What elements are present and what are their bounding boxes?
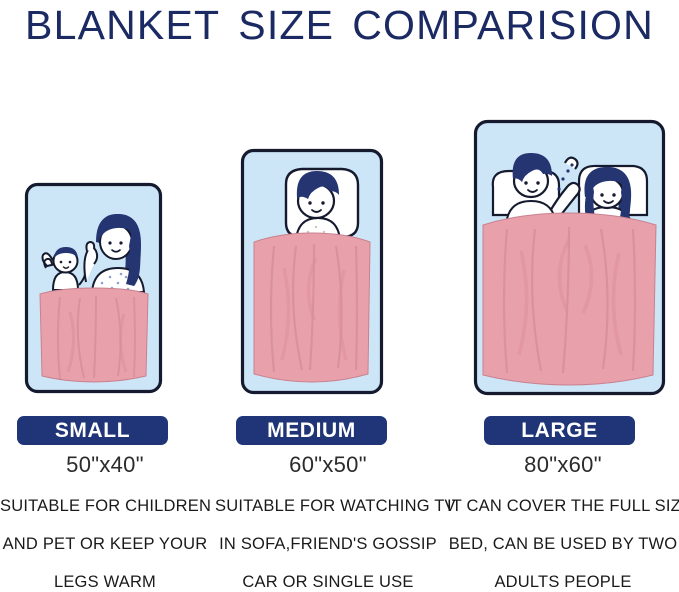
title-word-blanket: BLANKET bbox=[25, 2, 220, 48]
illustration-medium-blanket bbox=[240, 148, 384, 395]
dimensions-small: 50"x40" bbox=[0, 452, 210, 478]
dimensions-medium: 60"x50" bbox=[215, 452, 441, 478]
illustration-large-blanket bbox=[473, 119, 666, 396]
description-large-line-3: ADULTS PEOPLE bbox=[447, 573, 679, 592]
badge-large[interactable]: LARGE bbox=[484, 416, 635, 445]
description-medium-line-1: SUITABLE FOR WATCHING TV bbox=[215, 497, 441, 516]
badge-medium-label: MEDIUM bbox=[267, 419, 356, 443]
illustration-small-blanket bbox=[24, 182, 163, 394]
description-large-line-2: BED, CAN BE USED BY TWO bbox=[447, 535, 679, 554]
badge-small-label: SMALL bbox=[55, 419, 130, 443]
description-large-line-1: IT CAN COVER THE FULL SIZE bbox=[447, 497, 679, 516]
badge-large-label: LARGE bbox=[521, 419, 598, 443]
description-medium-line-2: IN SOFA,FRIEND'S GOSSIP bbox=[215, 535, 441, 554]
title-word-comparision: COMPARISION bbox=[352, 2, 654, 48]
description-small-line-2: AND PET OR KEEP YOUR bbox=[0, 535, 210, 554]
description-small-line-3: LEGS WARM bbox=[0, 573, 210, 592]
title-word-size: SIZE bbox=[238, 2, 334, 48]
blanket-size-comparison-infographic: BLANKETSIZECOMPARISION bbox=[0, 0, 679, 591]
badge-small[interactable]: SMALL bbox=[17, 416, 168, 445]
description-small-line-1: SUITABLE FOR CHILDREN bbox=[0, 497, 210, 516]
dimensions-large: 80"x60" bbox=[447, 452, 679, 478]
description-medium-line-3: CAR OR SINGLE USE bbox=[215, 573, 441, 592]
page-title: BLANKETSIZECOMPARISION bbox=[0, 2, 679, 49]
badge-medium[interactable]: MEDIUM bbox=[236, 416, 387, 445]
